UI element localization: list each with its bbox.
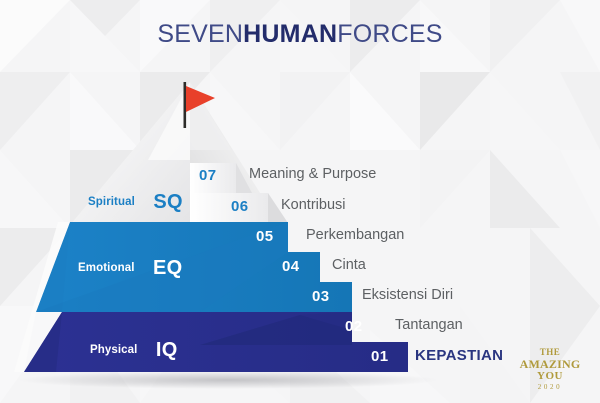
step-number-07: 07 [199,167,217,184]
step-label-03: Eksistensi Diri [362,287,453,303]
tier-name-spiritual: Spiritual [88,196,135,208]
step-label-06: Kontribusi [281,197,345,213]
tier-abbr-iq: IQ [156,339,178,361]
logo-line-you: YOU [514,371,586,382]
step-label-07: Meaning & Purpose [249,166,376,182]
tier-name-physical: Physical [90,344,137,356]
step-number-04: 04 [282,258,300,275]
step-label-01: KEPASTIAN [415,347,503,364]
tier-label-physical: Physical IQ [90,336,178,359]
step-number-06: 06 [231,198,249,215]
step-number-05: 05 [256,228,274,245]
title-part-forces: FORCES [337,20,442,48]
step-label-02: Tantangan [395,317,463,333]
step-number-02: 02 [345,318,363,335]
logo-line-the: THE [514,348,586,357]
logo-line-amazing: AMAZING [514,358,586,370]
tier-abbr-sq: SQ [153,191,183,213]
logo-line-year: 2020 [514,384,586,391]
step-label-05: Perkembangan [306,227,404,243]
brand-logo: THE AMAZING YOU 2020 [514,348,586,391]
step-number-01: 01 [371,348,389,365]
tier-label-spiritual: Spiritual SQ [88,188,183,211]
tier-abbr-eq: EQ [153,257,183,279]
step-label-04: Cinta [332,257,366,273]
title-part-human: HUMAN [243,20,337,48]
infographic-canvas: SEVENHUMANFORCES [0,0,600,403]
page-title: SEVENHUMANFORCES [0,20,600,49]
step-number-03: 03 [312,288,330,305]
tier-label-emotional: Emotional EQ [78,254,182,277]
tier-name-emotional: Emotional [78,262,135,274]
title-part-seven: SEVEN [157,20,243,48]
